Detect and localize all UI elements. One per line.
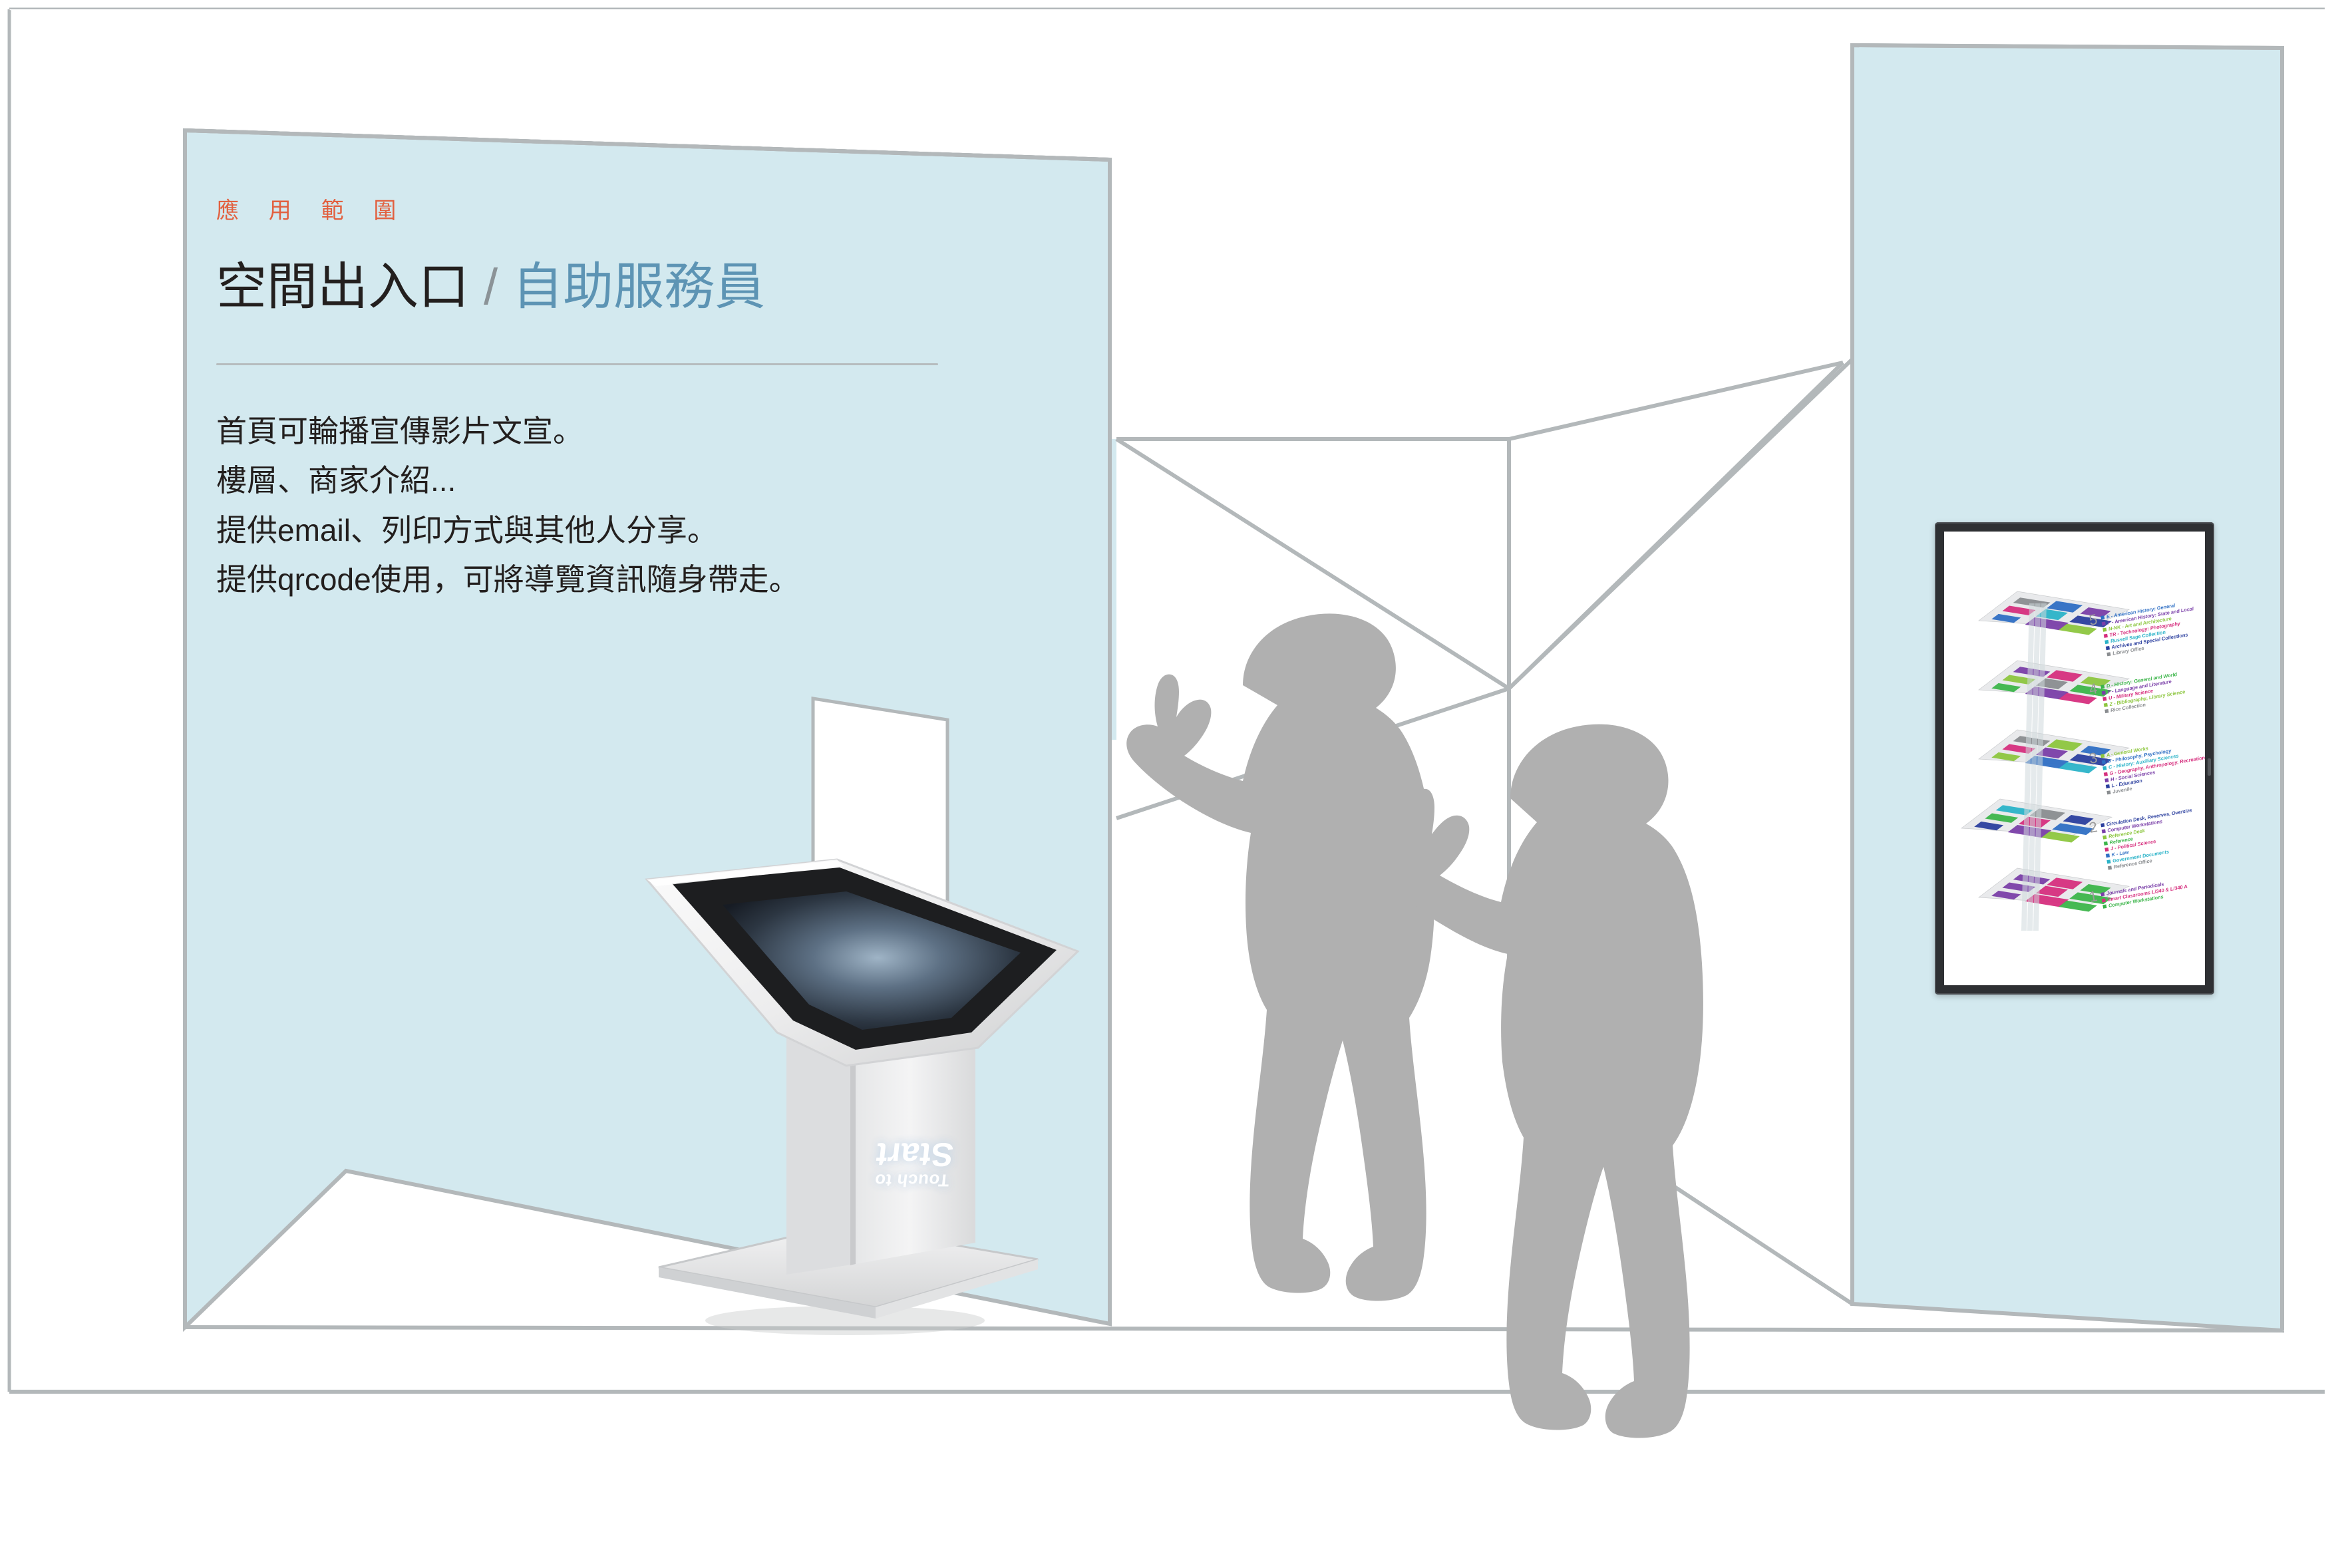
- legend-swatch: [2102, 628, 2106, 632]
- title-primary: 空間出入口: [216, 259, 469, 315]
- legend-swatch: [2102, 621, 2106, 625]
- kiosk-screen-message: Touch to Start: [872, 1138, 955, 1189]
- legend-swatch: [2106, 646, 2110, 650]
- legend-swatch: [2104, 709, 2108, 713]
- legend-swatch: [2106, 652, 2110, 656]
- kiosk-screen-line2: Start: [874, 1138, 955, 1172]
- legend-swatch: [2102, 836, 2106, 840]
- legend-swatch: [2100, 685, 2104, 689]
- legend-swatch: [2102, 691, 2106, 695]
- legend-swatch: [2104, 842, 2108, 846]
- legend-swatch: [2106, 790, 2110, 794]
- feature-list: 首頁可輪播宣傳影片文宣。 樓層、商家介紹... 提供email、列印方式與其他人…: [216, 406, 1001, 605]
- legend-swatch: [2100, 615, 2104, 619]
- legend-swatch: [2100, 892, 2104, 896]
- right-wall-outer-edge: [2282, 48, 2325, 1337]
- title-divider: [216, 363, 938, 365]
- legend-swatch: [2104, 848, 2108, 852]
- info-text-block: 應 用 範 圍 空間出入口/自助服務員 首頁可輪播宣傳影片文宣。 樓層、商家介紹…: [216, 200, 1001, 605]
- legend-swatch: [2102, 898, 2106, 902]
- legend-swatch: [2108, 865, 2112, 869]
- legend-swatch: [2106, 784, 2110, 788]
- legend-swatch: [2100, 823, 2104, 827]
- right-wall-top-edge: [1852, 45, 2282, 48]
- kiosk-touch-screen[interactable]: Touch to Start: [635, 868, 1075, 1334]
- legend-swatch: [2104, 634, 2108, 638]
- scene-illustration: 應 用 範 圍 空間出入口/自助服務員 首頁可輪播宣傳影片文宣。 樓層、商家介紹…: [0, 0, 2334, 1568]
- legend-swatch: [2104, 778, 2108, 782]
- floor-lines: [9, 1327, 2325, 1392]
- legend-swatch: [2102, 766, 2106, 770]
- perspective-lines: [1116, 363, 1843, 1078]
- list-item: 樓層、商家介紹...: [216, 456, 1001, 506]
- page-title: 空間出入口/自助服務員: [216, 261, 1001, 314]
- legend-swatch: [2102, 829, 2106, 833]
- person-left-silhouette: [1126, 613, 1434, 1301]
- title-separator: /: [469, 259, 512, 315]
- legend-swatch: [2100, 754, 2104, 758]
- power-indicator-icon: [2208, 758, 2211, 776]
- section-eyebrow: 應 用 範 圍: [216, 200, 1001, 222]
- legend-swatch: [2102, 905, 2106, 909]
- legend-swatch: [2104, 703, 2108, 707]
- display-screen[interactable]: 5E - American History: GeneralF - Americ…: [1944, 532, 2205, 985]
- list-item: 首頁可輪播宣傳影片文宣。: [216, 406, 1001, 456]
- title-accent: 自助服務員: [512, 259, 765, 315]
- ceiling-left-fill: [9, 9, 1131, 157]
- legend-swatch: [2106, 860, 2110, 863]
- list-item: 提供email、列印方式與其他人分享。: [216, 506, 1001, 555]
- legend-swatch: [2104, 772, 2108, 776]
- legend-swatch: [2102, 697, 2106, 701]
- legend-swatch: [2104, 640, 2108, 644]
- legend-swatch: [2102, 760, 2106, 764]
- wall-mounted-display[interactable]: 5E - American History: GeneralF - Americ…: [1935, 522, 2214, 995]
- kiosk-screen-line1: Touch to: [872, 1172, 951, 1189]
- list-item: 提供qrcode使用，可將導覽資訊隨身帶走。: [216, 555, 1001, 605]
- legend-swatch: [2106, 854, 2110, 858]
